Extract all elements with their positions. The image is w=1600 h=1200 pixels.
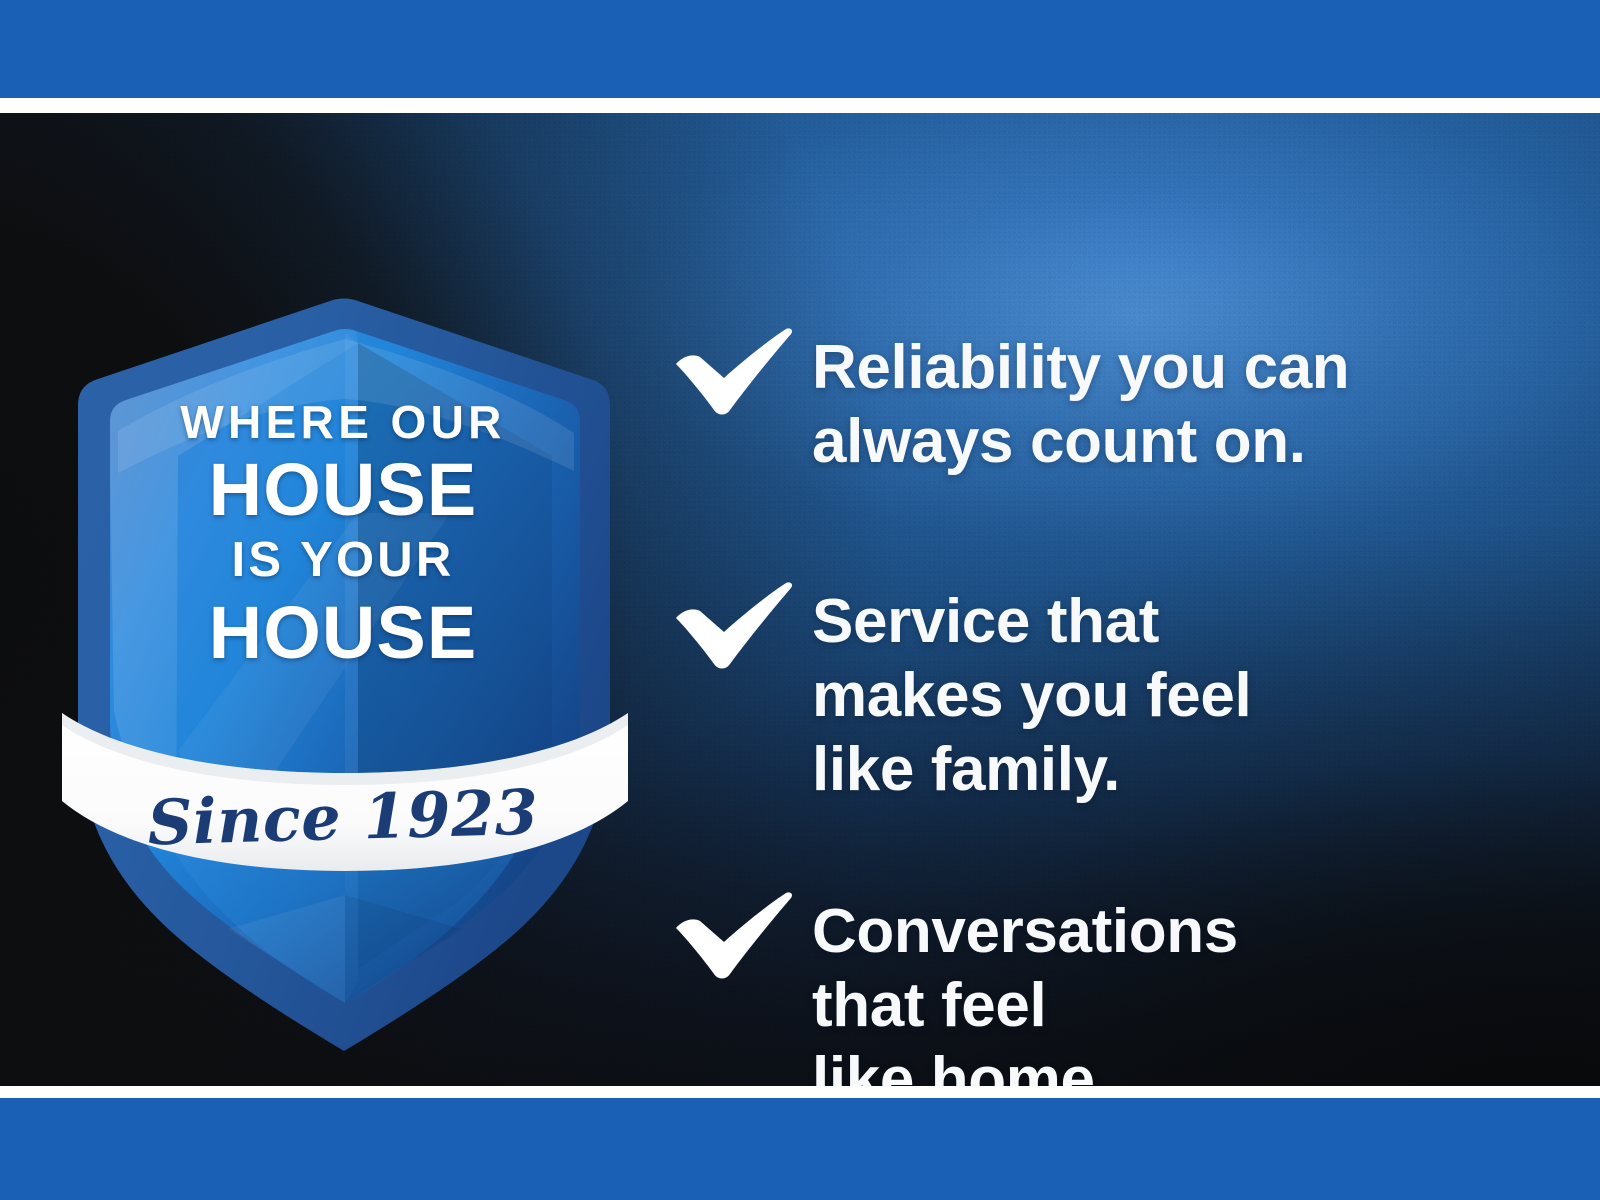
heritage-badge: WHERE OUR HOUSE IS YOUR HOUSE Since 1923 — [58, 281, 628, 961]
check-icon-glyph — [668, 320, 796, 420]
bottom-white-rule — [0, 1086, 1600, 1098]
main-stage: WHERE OUR HOUSE IS YOUR HOUSE Since 1923… — [0, 113, 1600, 1086]
benefit-text: Conversations that feel like home. — [812, 884, 1238, 1086]
benefit-list: Reliability you can always count on. Ser… — [668, 226, 1568, 1086]
top-brand-band — [0, 0, 1600, 98]
benefit-item-reliability: Reliability you can always count on. — [668, 320, 1349, 479]
check-icon-glyph — [668, 884, 796, 984]
check-icon — [668, 884, 796, 984]
benefit-item-service: Service that makes you feel like family. — [668, 574, 1251, 806]
badge-shield-graphic — [58, 281, 628, 961]
benefit-text: Service that makes you feel like family. — [812, 574, 1251, 806]
benefit-item-conversations: Conversations that feel like home. — [668, 884, 1238, 1086]
bottom-brand-band — [0, 1098, 1600, 1200]
top-white-rule — [0, 98, 1600, 113]
benefit-text: Reliability you can always count on. — [812, 320, 1349, 479]
check-icon-glyph — [668, 574, 796, 674]
check-icon — [668, 320, 796, 420]
check-icon — [668, 574, 796, 674]
promo-poster: WHERE OUR HOUSE IS YOUR HOUSE Since 1923… — [0, 0, 1600, 1200]
